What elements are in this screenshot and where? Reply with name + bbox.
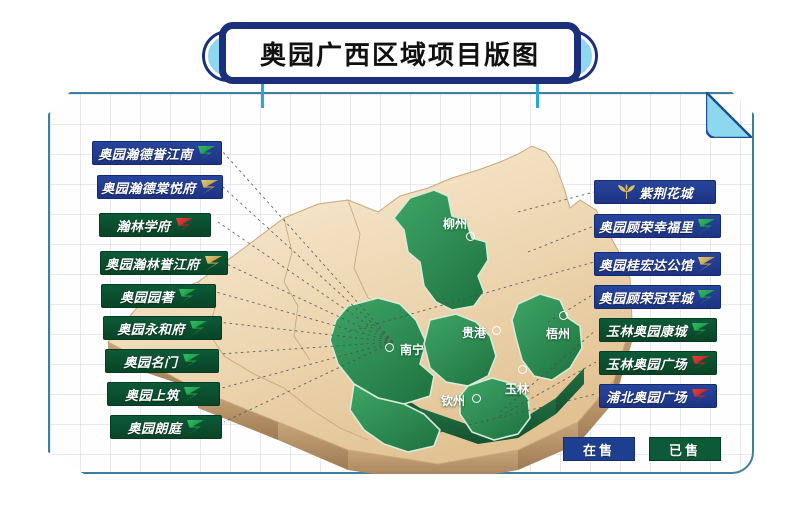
- project-label-right-4[interactable]: 奥园顾荣冠军城: [594, 285, 721, 309]
- project-label-text: 奥园瀚德誉江南: [98, 144, 193, 163]
- city-label: 贵港: [462, 324, 486, 341]
- project-label-left-6[interactable]: 奥园永和府: [103, 316, 222, 340]
- city-marker-dot: [466, 232, 475, 241]
- aoyuan-arrow-red-icon: [691, 356, 710, 371]
- project-label-text: 奥园瀚德棠悦府: [101, 178, 196, 197]
- project-label-text: 瀚林学府: [116, 216, 170, 235]
- city-label: 梧州: [546, 325, 570, 342]
- aoyuan-arrow-green-icon: [197, 146, 216, 161]
- city-marker-dot: [559, 311, 568, 320]
- project-label-left-8[interactable]: 奥园上筑: [107, 382, 220, 406]
- aoyuan-arrow-gold-icon: [200, 180, 219, 195]
- city-marker-dot: [518, 365, 527, 374]
- aoyuan-arrow-green-icon: [697, 290, 716, 305]
- project-label-text: 奥园园著: [120, 287, 174, 306]
- project-label-left-5[interactable]: 奥园园著: [101, 284, 216, 308]
- project-label-text: 奥园永和府: [117, 319, 185, 338]
- project-label-text: 浦北奥园广场: [606, 387, 687, 406]
- project-label-text: 奥园顾荣幸福里: [599, 217, 694, 236]
- project-label-text: 奥园名门: [123, 352, 177, 371]
- project-label-text: 玉林奥园广场: [606, 354, 687, 373]
- aoyuan-arrow-green-icon: [182, 354, 201, 369]
- folded-corner-icon: [706, 92, 752, 138]
- aoyuan-arrow-green-icon: [186, 420, 205, 435]
- aoyuan-arrow-green-icon: [697, 219, 716, 234]
- banner-stem-right: [536, 82, 539, 108]
- project-label-text: 紫荆花城: [639, 183, 693, 202]
- project-label-left-3[interactable]: 瀚林学府: [99, 213, 211, 237]
- page-title: 奥园广西区域项目版图: [260, 35, 540, 72]
- project-label-text: 奥园顾荣冠军城: [599, 288, 694, 307]
- legend-item-sold[interactable]: 已售: [649, 437, 721, 461]
- city-label: 柳州: [443, 215, 467, 232]
- project-label-right-5[interactable]: 玉林奥园康城: [599, 318, 717, 342]
- aoyuan-arrow-red-icon: [691, 389, 710, 404]
- leaf-icon: [617, 184, 635, 200]
- title-box: 奥园广西区域项目版图: [219, 22, 581, 84]
- city-label: 玉林: [505, 380, 529, 397]
- aoyuan-arrow-green-icon: [691, 323, 710, 338]
- project-label-left-4[interactable]: 奥园瀚林誉江府: [100, 251, 228, 275]
- project-label-left-7[interactable]: 奥园名门: [105, 349, 219, 373]
- aoyuan-arrow-green-icon: [183, 387, 202, 402]
- city-label: 钦州: [441, 392, 465, 409]
- aoyuan-arrow-green-icon: [178, 289, 197, 304]
- city-marker-dot: [472, 394, 481, 403]
- project-label-left-1[interactable]: 奥园瀚德誉江南: [92, 141, 222, 165]
- project-label-text: 奥园瀚林誉江府: [105, 254, 200, 273]
- title-banner: 奥园广西区域项目版图: [205, 22, 595, 84]
- project-label-right-7[interactable]: 浦北奥园广场: [599, 384, 717, 408]
- city-marker-dot: [385, 343, 394, 352]
- project-label-right-2[interactable]: 奥园顾荣幸福里: [594, 214, 721, 238]
- project-label-text: 玉林奥园康城: [606, 321, 687, 340]
- banner-stem-left: [261, 82, 264, 108]
- city-label: 南宁: [400, 341, 424, 358]
- project-label-right-1[interactable]: 紫荆花城: [594, 180, 716, 204]
- aoyuan-arrow-gold-icon: [697, 257, 716, 272]
- project-label-text: 奥园桂宏达公馆: [599, 255, 694, 274]
- project-label-text: 奥园上筑: [125, 385, 179, 404]
- project-label-right-3[interactable]: 奥园桂宏达公馆: [594, 252, 721, 276]
- city-marker-dot: [492, 326, 501, 335]
- aoyuan-arrow-red-icon: [175, 218, 194, 233]
- aoyuan-arrow-green-icon: [189, 321, 208, 336]
- legend-item-on-sale[interactable]: 在售: [563, 437, 635, 461]
- poster-root: 奥园广西区域项目版图: [0, 0, 800, 518]
- project-label-right-6[interactable]: 玉林奥园广场: [599, 351, 717, 375]
- project-label-text: 奥园朗庭: [127, 418, 181, 437]
- aoyuan-arrow-gold-icon: [204, 256, 223, 271]
- project-label-left-2[interactable]: 奥园瀚德棠悦府: [97, 175, 223, 199]
- project-label-left-9[interactable]: 奥园朗庭: [110, 415, 222, 439]
